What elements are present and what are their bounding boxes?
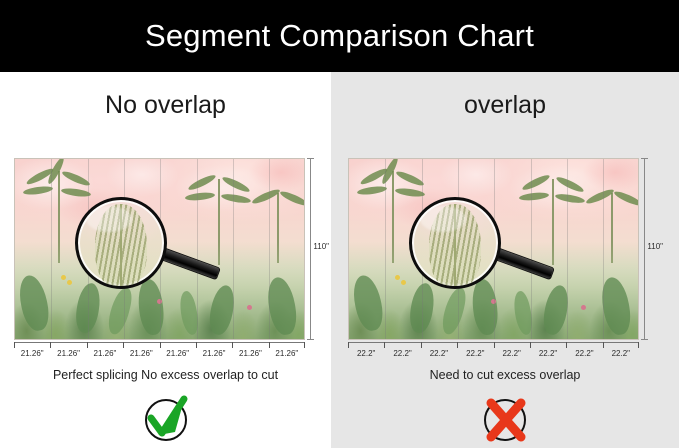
magnifier-lens bbox=[409, 197, 501, 289]
segment-width-label: 22.2" bbox=[566, 342, 602, 364]
verdict-cross-icon bbox=[478, 394, 532, 448]
height-label-overlap: 110" bbox=[647, 242, 663, 251]
mural-artwork bbox=[348, 158, 639, 340]
segment-width-label: 22.2" bbox=[421, 342, 457, 364]
segment-width-label: 21.26" bbox=[14, 342, 50, 364]
panel-no-overlap: No overlap bbox=[0, 72, 331, 448]
segment-seam bbox=[385, 159, 386, 339]
yellow-flower bbox=[61, 275, 66, 280]
page-title: Segment Comparison Chart bbox=[145, 18, 534, 54]
caption-overlap: Need to cut excess overlap bbox=[331, 368, 679, 382]
yellow-flower bbox=[401, 280, 406, 285]
width-dimension-row-overlap: 22.2" 22.2" 22.2" 22.2" 22.2" 22.2" 22.2… bbox=[348, 342, 639, 364]
yellow-flower bbox=[395, 275, 400, 280]
pink-flower bbox=[247, 305, 252, 310]
pink-flower bbox=[581, 305, 586, 310]
segment-seam bbox=[51, 159, 52, 339]
segment-width-label: 21.26" bbox=[160, 342, 196, 364]
segment-width-label: 21.26" bbox=[87, 342, 123, 364]
segment-width-label: 21.26" bbox=[232, 342, 268, 364]
lens-glare bbox=[86, 206, 132, 232]
magnifier-icon bbox=[409, 197, 559, 293]
height-dimension-tick bbox=[644, 158, 645, 340]
lens-glare bbox=[420, 206, 466, 232]
segment-width-label: 21.26" bbox=[50, 342, 86, 364]
segment-width-label: 21.26" bbox=[269, 342, 305, 364]
comparison-chart-page: Segment Comparison Chart No overlap bbox=[0, 0, 679, 448]
panel-overlap: overlap bbox=[331, 72, 679, 448]
height-label-no-overlap: 110" bbox=[313, 242, 329, 251]
segment-width-label: 22.2" bbox=[348, 342, 384, 364]
segment-seam bbox=[233, 159, 234, 339]
mural-artwork bbox=[14, 158, 305, 340]
caption-no-overlap: Perfect splicing No excess overlap to cu… bbox=[0, 368, 331, 382]
segment-seam bbox=[567, 159, 568, 339]
width-dimension-row-no-overlap: 21.26" 21.26" 21.26" 21.26" 21.26" 21.26… bbox=[14, 342, 305, 364]
segment-seam bbox=[603, 159, 604, 339]
yellow-flower bbox=[67, 280, 72, 285]
segment-seam bbox=[269, 159, 270, 339]
segment-width-label: 21.26" bbox=[196, 342, 232, 364]
segment-width-label: 22.2" bbox=[530, 342, 566, 364]
height-dimension-tick bbox=[310, 158, 311, 340]
segment-width-label: 22.2" bbox=[603, 342, 639, 364]
verdict-check-icon bbox=[139, 394, 193, 448]
title-banner: Segment Comparison Chart bbox=[0, 0, 679, 72]
panel-heading-overlap: overlap bbox=[331, 91, 679, 120]
segment-width-label: 22.2" bbox=[494, 342, 530, 364]
mural-figure-no-overlap: 110" 21.26" 21.26" 21.26" 21.26" 21.26" … bbox=[14, 158, 305, 340]
panels-container: No overlap bbox=[0, 72, 679, 448]
mural-figure-overlap: 110" 22.2" 22.2" 22.2" 22.2" 22.2" 22.2"… bbox=[348, 158, 639, 340]
panel-heading-no-overlap: No overlap bbox=[0, 91, 331, 120]
magnifier-icon bbox=[75, 197, 225, 293]
segment-width-label: 22.2" bbox=[457, 342, 493, 364]
segment-width-label: 21.26" bbox=[123, 342, 159, 364]
magnifier-lens bbox=[75, 197, 167, 289]
segment-width-label: 22.2" bbox=[384, 342, 420, 364]
